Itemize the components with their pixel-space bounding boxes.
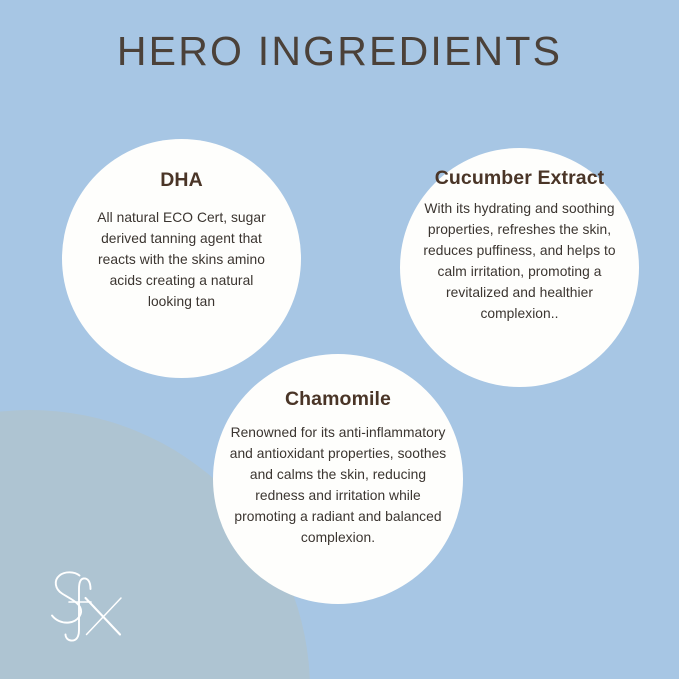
ingredient-heading-dha: DHA	[160, 169, 203, 192]
ingredient-description-chamomile: Renowned for its anti-inflammatory and a…	[229, 423, 448, 549]
sfx-monogram-icon	[44, 568, 136, 644]
ingredient-heading-chamomile: Chamomile	[285, 388, 391, 411]
ingredient-circle-chamomile: Chamomile Renowned for its anti-inflamma…	[213, 354, 463, 604]
ingredient-circle-dha: DHA All natural ECO Cert, sugar derived …	[62, 139, 301, 378]
brand-logo-sfx	[44, 568, 136, 644]
ingredient-description-dha: All natural ECO Cert, sugar derived tann…	[88, 208, 276, 313]
ingredient-description-cucumber: With its hydrating and soothing properti…	[421, 199, 618, 325]
ingredient-heading-cucumber: Cucumber Extract	[435, 167, 605, 190]
ingredient-circle-cucumber: Cucumber Extract With its hydrating and …	[400, 148, 639, 387]
hero-ingredients-infographic: HERO INGREDIENTS DHA All natural ECO Cer…	[0, 0, 679, 679]
page-title: HERO INGREDIENTS	[0, 28, 679, 75]
